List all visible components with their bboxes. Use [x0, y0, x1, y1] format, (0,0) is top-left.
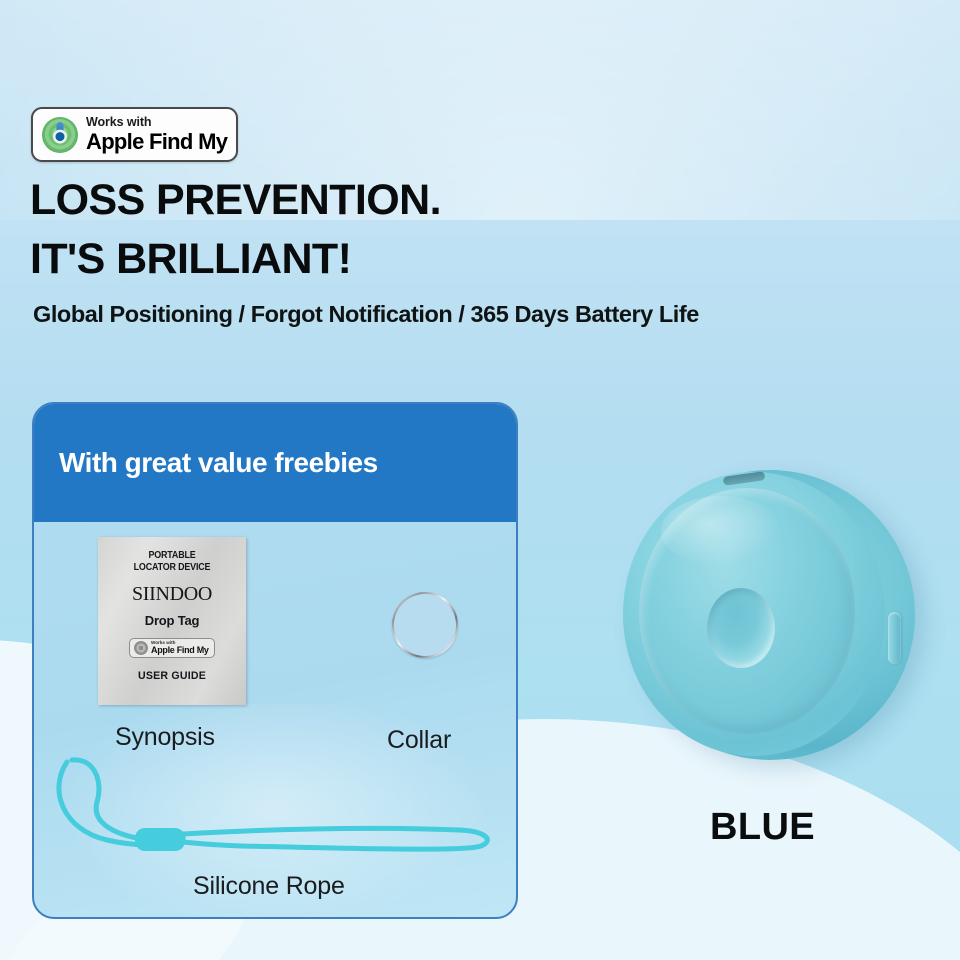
- headline-line-1: LOSS PREVENTION.: [30, 171, 441, 230]
- findmy-radar-icon: [42, 117, 78, 153]
- hero-headline: LOSS PREVENTION. IT'S BRILLIANT!: [30, 171, 441, 289]
- freebies-card-header: With great value freebies: [33, 403, 517, 522]
- badge-text-group: Works with Apple Find My: [86, 116, 227, 153]
- product-banner: Works with Apple Find My LOSS PREVENTION…: [0, 0, 960, 960]
- freebies-card-title: With great value freebies: [59, 447, 378, 479]
- booklet-footer: USER GUIDE: [98, 670, 246, 682]
- booklet-brand: SIINDOO: [98, 583, 246, 606]
- booklet-badge-text: Works with Apple Find My: [151, 641, 209, 655]
- booklet-kicker-line-2: LOCATOR DEVICE: [108, 562, 235, 574]
- caption-silicone-rope: Silicone Rope: [193, 872, 345, 901]
- booklet-radar-icon: [134, 641, 148, 655]
- apple-find-my-badge: Works with Apple Find My: [31, 107, 238, 162]
- product-color-label: BLUE: [710, 806, 815, 849]
- silicone-lanyard-icon: [45, 748, 515, 868]
- caption-synopsis: Synopsis: [115, 723, 215, 752]
- round-tracker-device: [625, 470, 915, 760]
- caption-collar: Collar: [387, 726, 451, 755]
- user-guide-booklet-icon: PORTABLE LOCATOR DEVICE SIINDOO Drop Tag…: [98, 537, 246, 705]
- metal-ring-icon: [392, 592, 458, 658]
- badge-brand-label: Apple Find My: [86, 131, 227, 153]
- booklet-badge-brand: Apple Find My: [151, 646, 209, 655]
- device-dimple: [707, 588, 775, 668]
- booklet-kicker: PORTABLE LOCATOR DEVICE: [108, 550, 235, 574]
- hero-subheadline: Global Positioning / Forgot Notification…: [33, 301, 699, 328]
- booklet-model: Drop Tag: [98, 613, 246, 628]
- headline-line-2: IT'S BRILLIANT!: [30, 230, 441, 289]
- badge-works-with-label: Works with: [86, 116, 227, 129]
- power-button: [888, 612, 901, 664]
- booklet-find-my-badge: Works with Apple Find My: [129, 638, 215, 658]
- booklet-kicker-line-1: PORTABLE: [108, 550, 235, 562]
